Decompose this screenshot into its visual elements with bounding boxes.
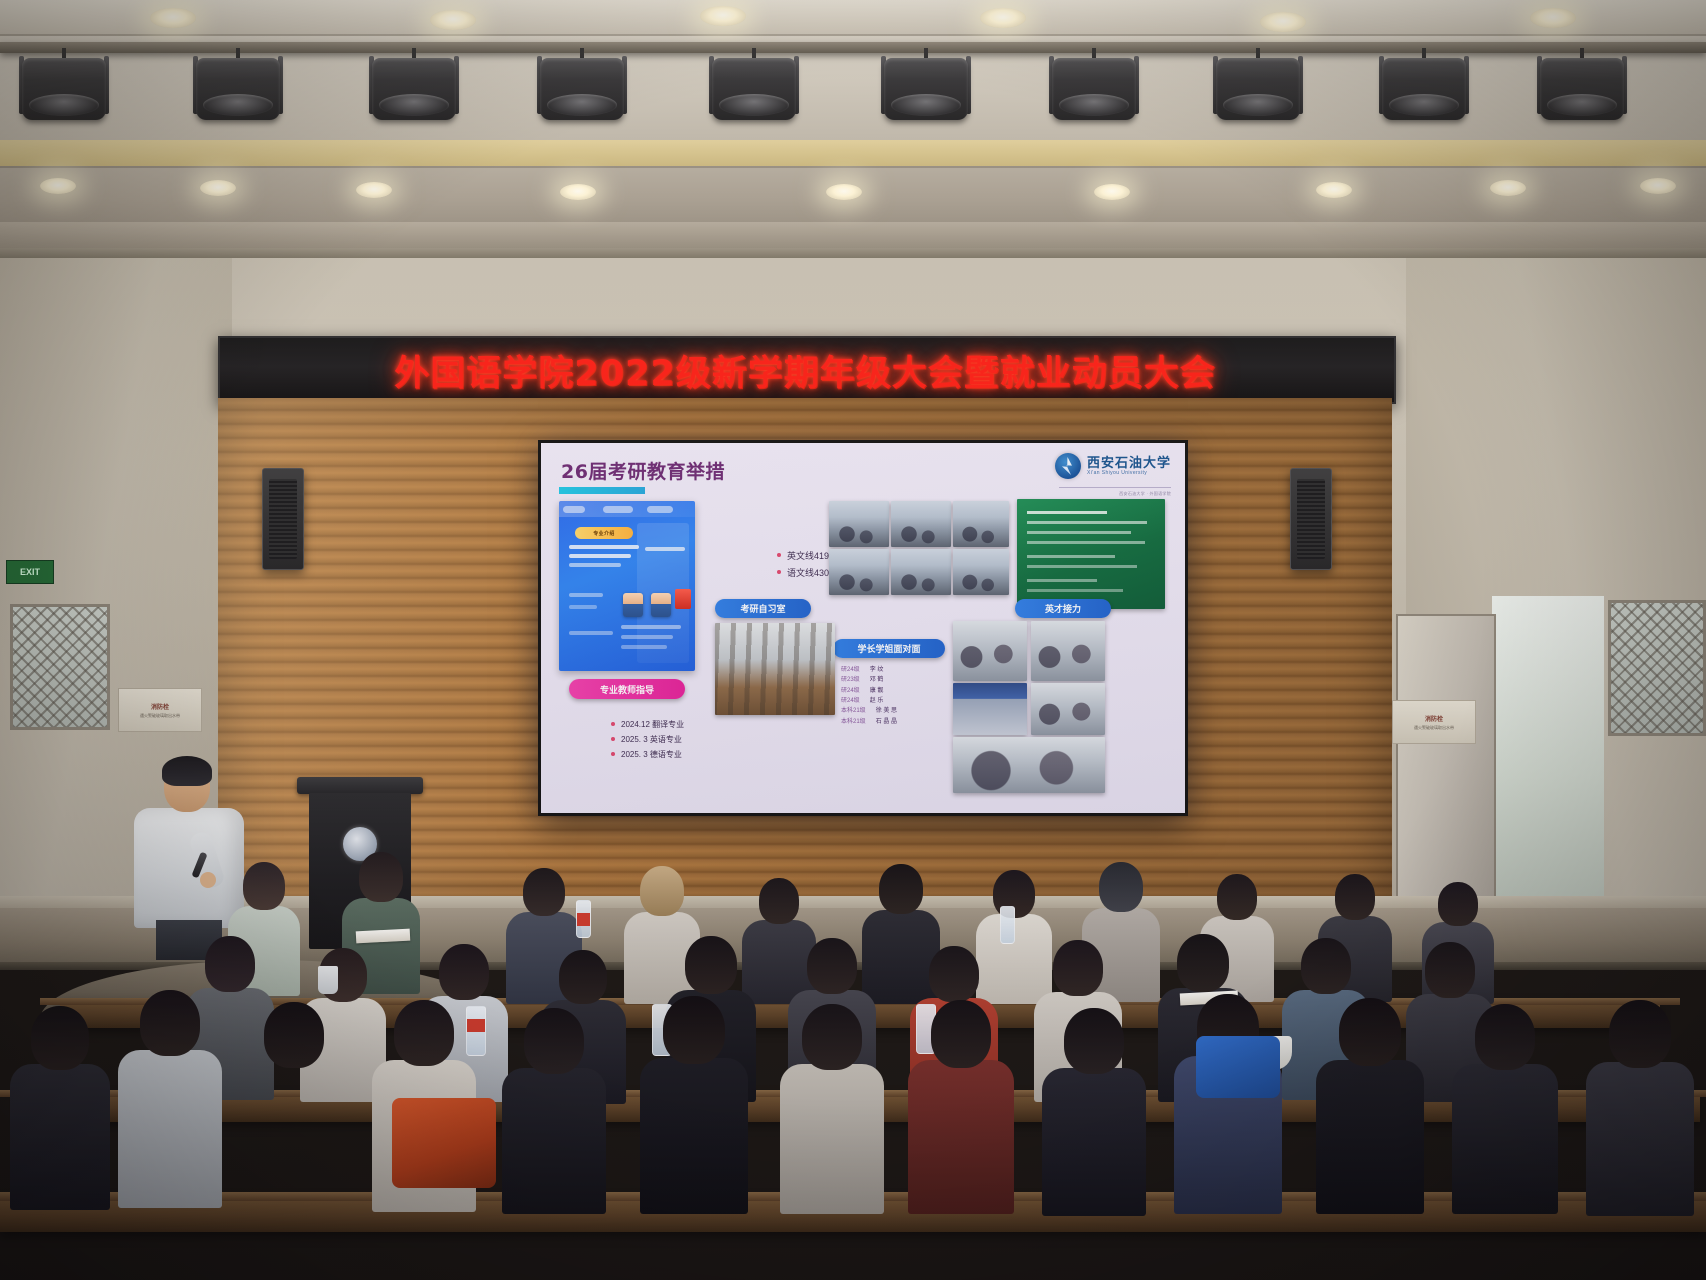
downlight [430,10,476,30]
ceiling-seam-1 [0,34,1706,36]
audience-person [118,990,222,1206]
person-torso [1586,1062,1694,1216]
university-logo: 西安石油大学 Xi'an Shiyou University [1055,453,1171,479]
mentor-row: 研24级 李 纹 [841,665,897,675]
projection-screen[interactable]: 26届考研教育举措 西安石油大学 Xi'an Shiyou University… [538,440,1188,816]
slide-logo-footnote: 西安石油大学 · 外国语学院 [1059,491,1171,497]
downlight [1490,180,1526,196]
side-door [1396,614,1496,918]
ceiling [0,0,1706,250]
mentor-row: 本科21级 徐 美 思 [841,706,897,716]
audience-person [1174,994,1282,1212]
person-torso [1452,1064,1558,1214]
person-head [524,1008,584,1074]
date-bullet: 2024.12 翻译专业 [611,717,684,732]
classroom-photo [891,501,951,547]
downlight [1094,184,1130,200]
downlight [1260,12,1306,32]
audience-person [1452,1004,1558,1212]
downlight [980,8,1026,28]
audience-person [10,1006,110,1206]
person-head [1425,942,1475,998]
audience-person [242,1002,346,1208]
person-torso [242,1062,346,1212]
audience-person [1042,1008,1146,1212]
person-head [879,864,923,914]
person-head [1301,938,1351,994]
person-head [663,996,725,1064]
downlight [1316,182,1352,198]
audience-person [780,1004,884,1210]
side-window [1492,596,1604,896]
person-head [559,950,607,1004]
lighting-truss-upper [0,42,1706,53]
mentor-cohort: 本科21级 [841,706,866,716]
mentor-name: 李 纹 [870,665,884,675]
downlight [700,6,746,26]
mentor-cohort: 研24级 [841,686,860,696]
pill-teacher-guidance: 专业教师指导 [569,679,685,699]
tote-bag [1196,1036,1280,1098]
downlight [1640,178,1676,194]
students-photo [1031,621,1105,681]
person-head [1053,940,1103,996]
score-bullet: 语文线430 [777,565,829,582]
person-head [929,946,979,1002]
water-bottle [576,900,591,938]
downlight [200,180,236,196]
seminar-poster: 专业介绍 [559,501,695,671]
date-bullet: 2025. 3 英语专业 [611,732,684,747]
classroom-photo [953,501,1009,547]
wechat-info-panel [1017,499,1165,609]
audience-person [1316,998,1424,1212]
person-torso [640,1058,748,1214]
downlight [40,178,76,194]
person-head [523,868,565,916]
person-head [685,936,737,994]
person-head [807,938,857,994]
slide-header-rule [1059,487,1171,488]
mentor-row: 研24级 赵 乐 [841,696,897,706]
downlight [356,182,392,198]
students-photo [1031,683,1105,735]
poster-avatar [623,593,643,617]
mentor-cohort: 研24级 [841,696,860,706]
mentor-name: 邓 鹤 [870,675,884,685]
ceiling-band-1 [0,0,1706,34]
person-head [1438,882,1478,926]
downlight [826,184,862,200]
person-torso [780,1064,884,1214]
person-head [759,878,799,924]
speaker-hair [162,756,212,786]
mentor-row: 本科21级 石 晶 晶 [841,717,897,727]
person-head [205,936,255,992]
downlight [560,184,596,200]
date-bullet-list: 2024.12 翻译专业 2025. 3 英语专业 2025. 3 德语专业 [571,717,684,763]
slide-title-accent-bar [559,487,645,494]
pill-talent-relay: 英才接力 [1015,599,1111,618]
classroom-photo [829,549,889,595]
screen-photo [953,683,1027,735]
mentor-cohort: 本科21级 [841,717,866,727]
group-photo [953,737,1105,793]
poster-tag: 专业介绍 [575,527,633,539]
students-photo [953,621,1027,681]
downlight [1530,8,1576,28]
mentor-cohort: 研24级 [841,665,860,675]
person-head [1335,874,1375,920]
slide-title: 26届考研教育举措 [561,457,725,484]
person-head [140,990,200,1056]
water-bottle [1000,906,1015,944]
plaque-title: 消防栓 [151,702,169,711]
wall-grille-right [1608,600,1706,736]
person-head [1339,998,1401,1066]
speaker-hand [200,872,216,888]
person-head [640,866,684,916]
audience-person [640,996,748,1212]
person-head [243,862,285,910]
pill-senior-meetup: 学长学姐面对面 [833,639,945,658]
led-banner-text: 外国语学院2022级新学期年级大会暨就业动员大会 [218,344,1392,396]
fire-hose-plaque-left: 消防栓 遇火警破玻璃取出水带 [118,688,202,732]
classroom-photo [891,549,951,595]
wall-trim-top [0,248,1706,258]
person-head [1475,1004,1535,1070]
classroom-photo [829,501,889,547]
person-torso [1042,1068,1146,1216]
plaque-sub: 遇火警破玻璃取出水带 [1414,725,1454,730]
drink-cup [318,966,338,994]
pa-speaker-right [1290,468,1332,570]
wall-grille-left [10,604,110,730]
person-head [1064,1008,1124,1074]
mentor-cohort: 研23级 [841,675,860,685]
poster-badge [675,589,691,609]
poster-topbar [559,501,695,517]
ceiling-seam-2 [0,166,1706,168]
audience-person [1586,1000,1694,1212]
audience-person [908,1000,1014,1212]
ceiling-accent-band [0,140,1706,166]
person-head [1217,874,1257,920]
mentor-row: 研24级 康 靓 [841,686,897,696]
pill-study-room: 考研自习室 [715,599,811,618]
plaque-title: 消防栓 [1425,714,1443,723]
person-head [802,1004,862,1070]
person-head [359,852,403,902]
person-head [1609,1000,1671,1068]
lecture-hall-photo: EXIT 消防栓 遇火警破玻璃取出水带 消防栓 遇火警破玻璃取出水带 外国语学院… [0,0,1706,1280]
presentation-slide: 26届考研教育举措 西安石油大学 Xi'an Shiyou University… [541,443,1185,813]
audience-person [502,1008,606,1210]
person-torso [502,1068,606,1214]
lecture-room-photo [715,623,835,715]
person-head [264,1002,324,1068]
downlight [150,8,196,28]
person-head [1099,862,1143,912]
mentor-name: 徐 美 思 [876,706,897,716]
fire-hose-plaque-right: 消防栓 遇火警破玻璃取出水带 [1392,700,1476,744]
person-torso [908,1060,1014,1214]
date-bullet: 2025. 3 德语专业 [611,747,684,762]
ceiling-band-3 [0,222,1706,250]
mentor-row: 研23级 邓 鹤 [841,675,897,685]
pa-speaker-left [262,468,304,570]
poster-avatar [651,593,671,617]
score-bullet: 英文线419 [777,548,829,565]
person-head [1177,934,1229,992]
mentor-name: 康 靓 [870,686,884,696]
person-torso [118,1050,222,1208]
backpack [392,1098,496,1188]
person-head [931,1000,991,1068]
mentor-name: 石 晶 晶 [876,717,897,727]
podium-top [297,777,423,794]
plaque-sub: 遇火警破玻璃取出水带 [140,713,180,718]
person-torso [1316,1060,1424,1214]
university-name-cn: 西安石油大学 [1087,457,1171,470]
classroom-photo [953,549,1009,595]
person-head [394,1000,454,1066]
mentor-name-list: 研24级 李 纹 研23级 邓 鹤 研24级 康 靓 研24级 赵 乐 本科21… [841,665,897,727]
exit-sign: EXIT [6,560,54,584]
person-torso [10,1064,110,1210]
university-crest-icon [1055,453,1081,479]
score-bullet-list: 英文线419 语文线430 [737,548,829,582]
person-head [439,944,489,1000]
person-head [31,1006,89,1070]
mentor-name: 赵 乐 [870,696,884,706]
